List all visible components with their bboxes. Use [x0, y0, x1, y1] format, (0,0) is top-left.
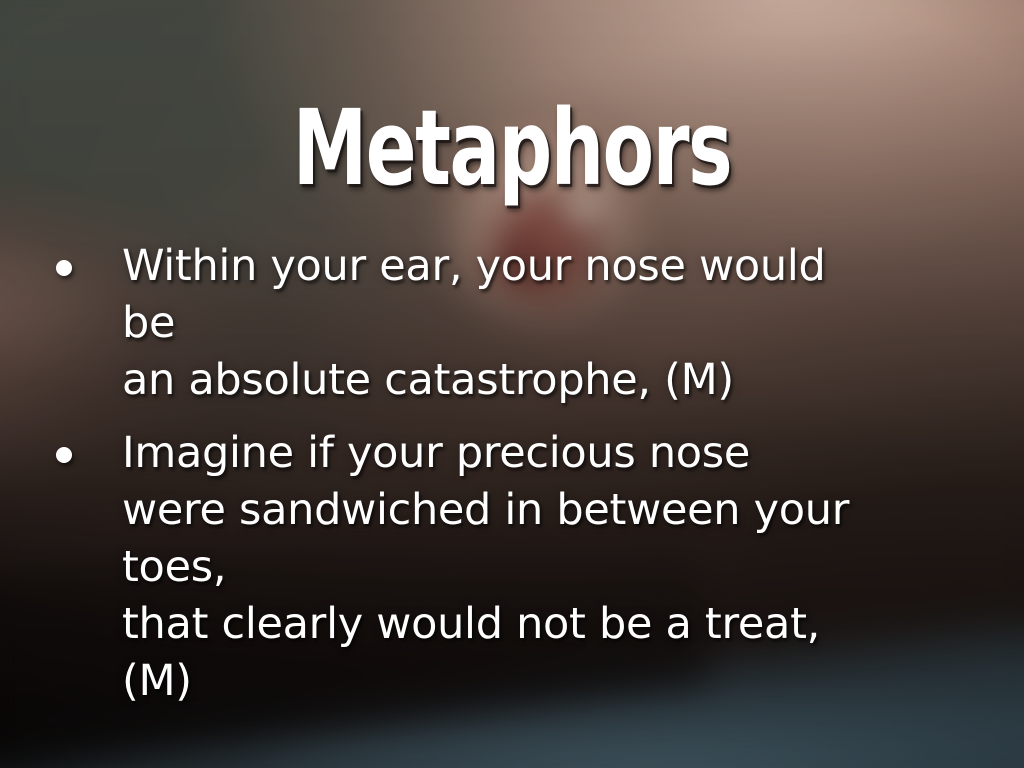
- bullet-line: were sandwiched in between your: [122, 482, 1000, 539]
- bullet-line: that clearly would not be a treat,: [122, 596, 1000, 653]
- list-item: Within your ear, your nose would be an a…: [56, 238, 1000, 409]
- bullet-line: Within your ear, your nose would: [122, 238, 1000, 295]
- presentation-slide: Metaphors Within your ear, your nose wou…: [0, 0, 1024, 768]
- bullet-text: Within your ear, your nose would be an a…: [122, 238, 1000, 409]
- bullet-text: Imagine if your precious nose were sandw…: [122, 425, 1000, 710]
- slide-content: Metaphors Within your ear, your nose wou…: [0, 0, 1024, 768]
- bullet-line: an absolute catastrophe, (M): [122, 352, 1000, 409]
- list-item: Imagine if your precious nose were sandw…: [56, 425, 1000, 710]
- bullet-dot-icon: [56, 447, 72, 463]
- bullet-dot-icon: [56, 260, 72, 276]
- bullet-line: Imagine if your precious nose: [122, 425, 1000, 482]
- bullet-line: toes,: [122, 539, 1000, 596]
- bullet-line: be: [122, 295, 1000, 352]
- slide-title: Metaphors: [143, 96, 880, 200]
- bullet-line: (M): [122, 653, 1000, 710]
- bullet-list: Within your ear, your nose would be an a…: [56, 238, 1000, 726]
